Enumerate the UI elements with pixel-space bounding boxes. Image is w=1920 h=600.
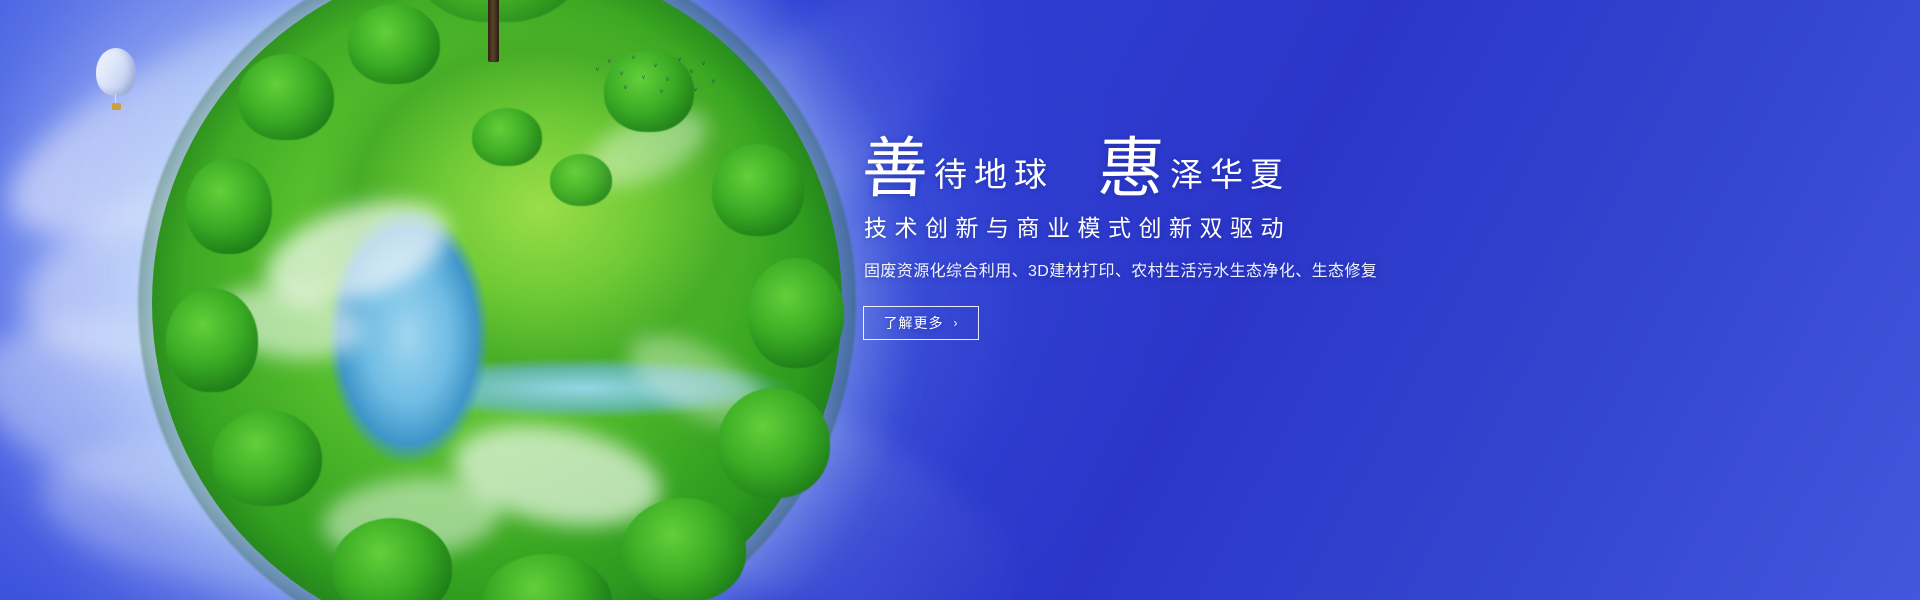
hero-description: 固废资源化综合利用、3D建材打印、农村生活污水生态净化、生态修复 <box>864 260 1562 284</box>
planet-cloud <box>615 317 778 446</box>
planet-tree-tuft <box>166 288 258 392</box>
headline-group-2: 惠 泽华夏 <box>1098 136 1290 202</box>
learn-more-button[interactable]: 了解更多 › <box>863 306 979 340</box>
planet-forest-rim <box>138 0 856 600</box>
balloon-basket <box>112 103 121 110</box>
planet-tree-tuft <box>348 4 440 84</box>
planet-tree-tuft <box>622 498 746 600</box>
hero-headline: 善 待地球 惠 泽华夏 <box>862 118 1562 202</box>
planet-tree-tuft <box>472 108 542 166</box>
planet-tree-tuft <box>748 258 844 368</box>
bird-icon: ᵛ <box>632 54 635 63</box>
planet-image <box>152 0 842 600</box>
chevron-right-icon: › <box>954 317 959 329</box>
bird-icon: ᵛ <box>596 66 599 75</box>
headline-char-shan: 善 <box>860 136 929 202</box>
cloud-streak <box>159 0 641 231</box>
hot-air-balloon-icon <box>96 48 136 110</box>
headline-char-hui: 惠 <box>1096 136 1165 202</box>
planet-cloud <box>208 278 366 368</box>
bird-icon: ᵛ <box>702 60 705 69</box>
cloud-streak <box>0 274 545 586</box>
headline-text-zehuaxia: 泽华夏 <box>1170 154 1290 202</box>
bird-icon: ᵛ <box>608 58 611 67</box>
cloud-streak <box>504 302 1056 600</box>
bird-icon: ᵛ <box>624 84 627 93</box>
planet-tree-tuft <box>212 410 322 506</box>
balloon-envelope <box>96 48 136 96</box>
hero-banner: ᵛ ᵛ ᵛ ᵛ ᵛ ᵛ ᵛ ᵛ ᵛ ᵛ ᵛ ᵛ ᵛ ᵛ 善 待地球 惠 泽华夏 … <box>0 0 1920 600</box>
hero-content: 善 待地球 惠 泽华夏 技术创新与商业模式创新双驱动 固废资源化综合利用、3D建… <box>862 118 1562 340</box>
planet-cloud <box>445 410 668 540</box>
planet-tree-tuft <box>332 518 452 600</box>
bird-icon: ᵛ <box>660 88 663 97</box>
cloud-streak <box>0 0 561 289</box>
planet-tree-tuft <box>712 144 804 236</box>
hero-tree-icon <box>410 0 586 22</box>
planet-cloud <box>575 94 718 202</box>
bird-icon: ᵛ <box>712 78 715 87</box>
birds-flock-icon: ᵛ ᵛ ᵛ ᵛ ᵛ ᵛ ᵛ ᵛ ᵛ ᵛ ᵛ ᵛ ᵛ ᵛ <box>594 50 724 98</box>
planet-glow <box>82 0 912 600</box>
planet-cloud <box>253 181 462 325</box>
headline-text-daidiqiu: 待地球 <box>934 154 1054 202</box>
headline-group-1: 善 待地球 <box>862 136 1054 202</box>
hero-tree-trunk <box>488 0 499 62</box>
learn-more-label: 了解更多 <box>884 313 944 333</box>
planet-tree-tuft <box>186 158 272 254</box>
planet-tree-tuft <box>238 54 334 140</box>
planet-tree-tuft <box>482 554 612 600</box>
planet-tree-tuft <box>718 388 830 498</box>
hero-subtitle: 技术创新与商业模式创新双驱动 <box>864 212 1562 244</box>
bird-icon: ᵛ <box>654 62 657 71</box>
bird-icon: ᵛ <box>642 74 645 83</box>
bird-icon: ᵛ <box>690 68 693 77</box>
planet-cloud <box>318 469 505 567</box>
planet-tree-tuft <box>550 154 612 206</box>
cloud-streak <box>6 98 653 412</box>
bird-icon: ᵛ <box>694 86 697 95</box>
bird-icon: ᵛ <box>678 56 681 65</box>
bird-icon: ᵛ <box>620 70 623 79</box>
bird-icon: ᵛ <box>666 76 669 85</box>
planet-globe <box>152 0 842 600</box>
cloud-streak <box>33 416 506 600</box>
